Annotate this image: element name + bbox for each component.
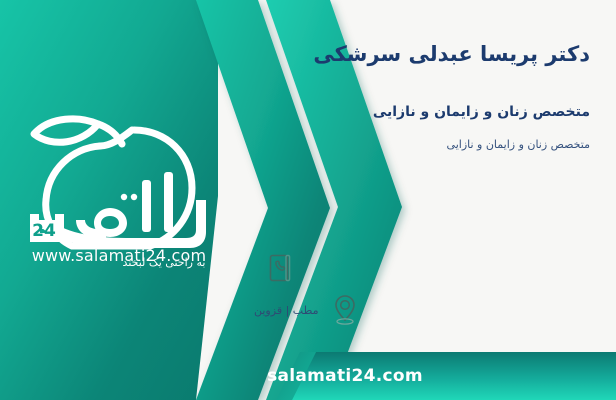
doctor-info-column: دکتر پریسا عبدلی سرشکی متخصص زنان و زایم…	[254, 0, 590, 400]
doctor-profile-card: 24 به راحتی یک لبخند www.salamati24.com …	[0, 0, 616, 400]
page-title: دکتر پریسا عبدلی سرشکی	[254, 40, 590, 68]
footer-bar	[0, 352, 616, 400]
contact-address-label: مطب | قزوین	[254, 304, 319, 317]
doctor-specialty-primary: متخصص زنان و زایمان و نازایی	[254, 104, 590, 120]
contact-address-row[interactable]: مطب | قزوین	[254, 290, 590, 330]
phone-book-icon[interactable]	[264, 251, 296, 285]
contact-phone-row[interactable]	[254, 250, 590, 286]
map-pin-icon[interactable]	[329, 293, 361, 327]
logo-website-url: www.salamati24.com	[14, 246, 224, 265]
doctor-specialty-secondary: متخصص زنان و زایمان و نازایی	[254, 138, 590, 151]
